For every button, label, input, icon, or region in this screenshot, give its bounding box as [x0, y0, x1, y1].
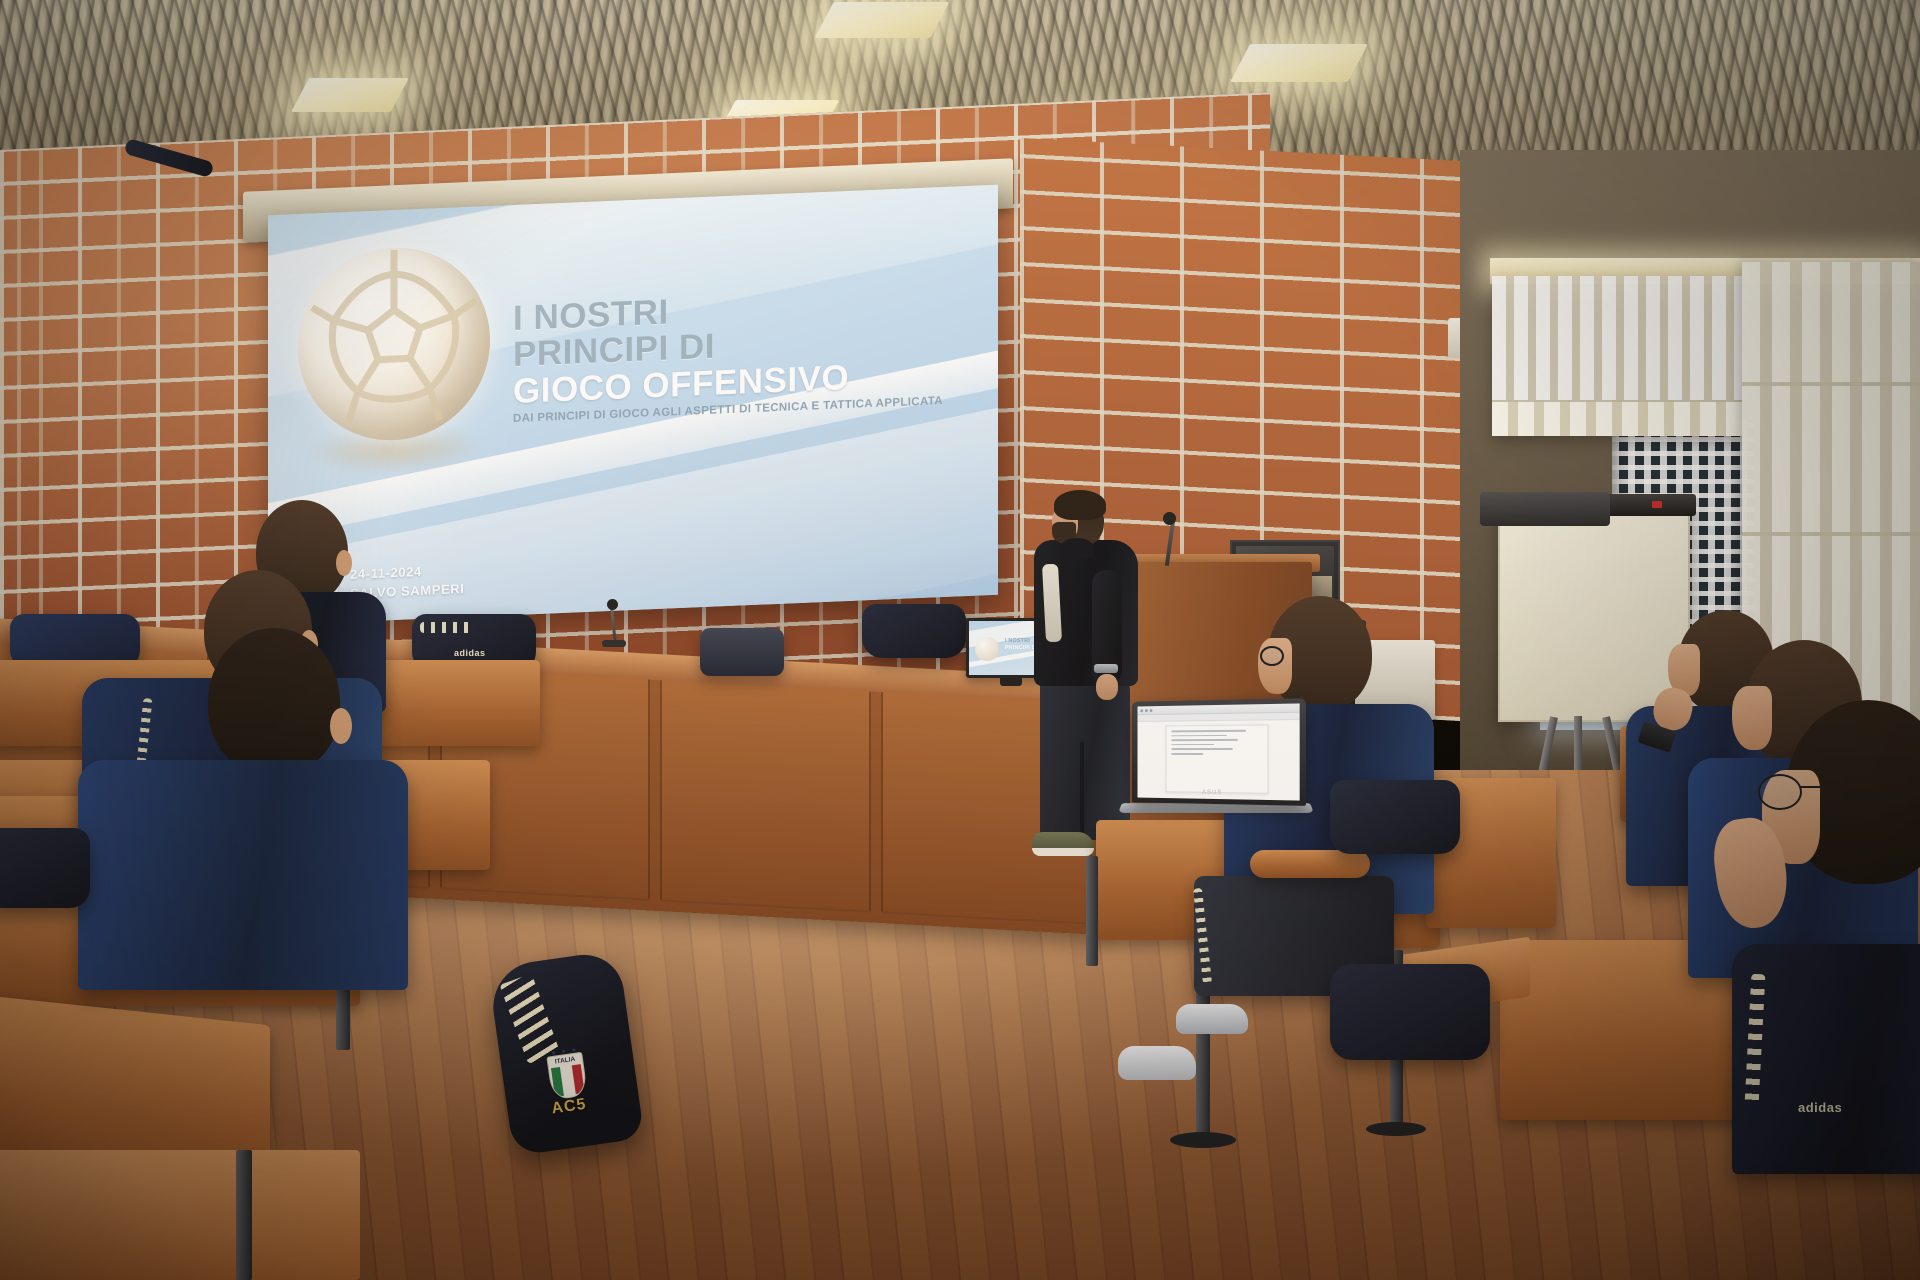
- presenter-hand: [1096, 674, 1118, 700]
- seat-armrest[interactable]: [1250, 850, 1370, 878]
- eyeglasses-icon: [1758, 774, 1802, 810]
- adidas-wordmark: adidas: [1798, 1100, 1842, 1115]
- adidas-wordmark: adidas: [454, 648, 486, 658]
- badge-shield: ITALIA: [546, 1052, 588, 1101]
- microphone-base: [602, 640, 626, 647]
- soccer-ball-icon: [975, 637, 999, 661]
- presentation-slide: I NOSTRI PRINCIPI DI GIOCO OFFENSIVO DAI…: [268, 185, 998, 626]
- kit-bag[interactable]: [862, 604, 966, 658]
- audience-jacket: [78, 760, 408, 990]
- backpack-sponsor-mark: AC5: [550, 1096, 587, 1119]
- presenter-shoe-sole: [1032, 848, 1094, 856]
- audience-shoe: [1118, 1046, 1196, 1080]
- audience-member: adidas: [1752, 700, 1920, 1170]
- office-chair-back[interactable]: [700, 628, 784, 676]
- presenter-hair: [1054, 490, 1106, 520]
- audience-head: [208, 628, 340, 776]
- kit-bag[interactable]: [1330, 780, 1460, 854]
- eyeglasses-bridge: [1800, 786, 1826, 788]
- wristwatch-icon: [1094, 664, 1118, 673]
- projection-screen: I NOSTRI PRINCIPI DI GIOCO OFFENSIVO DAI…: [268, 185, 998, 626]
- figc-italia-badge-icon: ★ ★ ★ ★ ITALIA: [546, 1052, 588, 1101]
- attendee-laptop[interactable]: ASUS: [1128, 700, 1304, 830]
- microphone-icon: [607, 599, 618, 610]
- counter-panel: [660, 675, 871, 912]
- presenter-collar: [1060, 538, 1094, 558]
- audience-shoe: [1176, 1004, 1248, 1034]
- ceiling-light-fixture: [814, 2, 949, 38]
- laptop-document-page[interactable]: [1165, 724, 1269, 793]
- eyeglasses-icon: [1260, 646, 1284, 666]
- microphone-icon: [1163, 512, 1176, 525]
- ceiling-light-fixture: [1230, 44, 1368, 82]
- adidas-backpack[interactable]: ★ ★ ★ ★ ITALIA AC5: [487, 950, 644, 1157]
- monitor-stand: [1000, 678, 1022, 686]
- ceiling-light-fixture: [291, 78, 409, 112]
- badge-tricolor-bars: [551, 1064, 585, 1097]
- laptop-brand-label: ASUS: [1202, 790, 1222, 796]
- ceiling-projector: [1480, 492, 1610, 526]
- bench-support-leg: [236, 1150, 252, 1280]
- presenter-legs: [1040, 680, 1130, 840]
- flipchart-brand-dot: [1652, 501, 1662, 508]
- bench-support-leg: [1086, 856, 1098, 966]
- presenter-leg-split: [1080, 742, 1084, 842]
- laptop-screen[interactable]: [1138, 703, 1300, 800]
- bench-leg-foot: [1170, 1132, 1236, 1148]
- kit-bag[interactable]: [1330, 964, 1490, 1060]
- slide-title-block: I NOSTRI PRINCIPI DI GIOCO OFFENSIVO DAI…: [513, 281, 983, 425]
- soccer-ball-icon: [298, 244, 490, 444]
- three-stripes-icon: [420, 622, 472, 633]
- bench-seat[interactable]: [0, 1150, 360, 1280]
- ear: [330, 708, 352, 744]
- lecture-hall-photo: I NOSTRI PRINCIPI DI GIOCO OFFENSIVO DAI…: [0, 0, 1920, 1280]
- roman-blind-left[interactable]: [1492, 276, 1742, 436]
- bench-leg-foot: [1366, 1122, 1426, 1136]
- laptop-app-ribbon[interactable]: [1138, 713, 1300, 722]
- kit-bag[interactable]: [0, 828, 90, 908]
- audience-member: [148, 628, 378, 968]
